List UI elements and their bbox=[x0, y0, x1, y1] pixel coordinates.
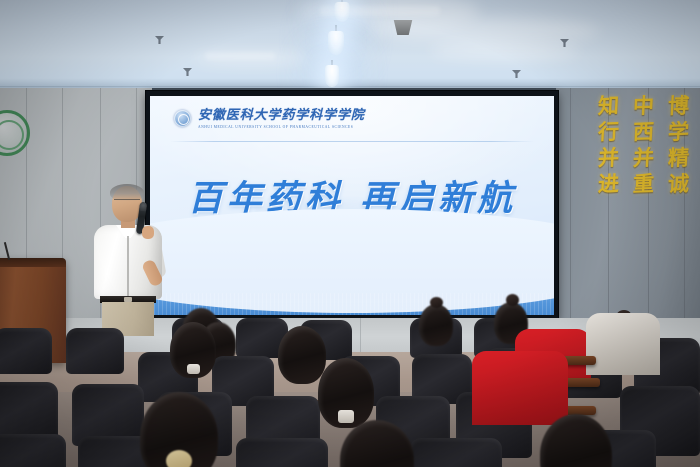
slide-divider bbox=[170, 141, 534, 142]
audience-member bbox=[419, 304, 453, 346]
lecture-hall-scene: 知 行 并 进 中 西 并 重 博 学 精 诚 安徽医科大学药学科学学院 bbox=[0, 0, 700, 467]
calligraphy-char: 中 bbox=[632, 96, 654, 118]
audience-member bbox=[540, 414, 612, 467]
projection-screen: 安徽医科大学药学科学学院 ANHUI MEDICAL UNIVERSITY SC… bbox=[146, 91, 558, 320]
audience-member bbox=[318, 358, 374, 428]
slide-organization-cn: 安徽医科大学药学科学学院 bbox=[198, 109, 365, 123]
seat bbox=[236, 438, 328, 467]
calligraphy-char: 行 bbox=[597, 122, 619, 144]
wall-calligraphy: 知 行 并 进 中 西 并 重 博 学 精 诚 bbox=[598, 96, 689, 195]
seat bbox=[0, 328, 52, 374]
sprinkler-icon bbox=[155, 36, 164, 44]
slide-organization-en: ANHUI MEDICAL UNIVERSITY SCHOOL OF PHARM… bbox=[198, 124, 365, 129]
calligraphy-char: 博 bbox=[667, 96, 689, 118]
calligraphy-char: 知 bbox=[597, 96, 619, 118]
calligraphy-char: 进 bbox=[597, 174, 619, 196]
calligraphy-char: 并 bbox=[632, 148, 654, 170]
calligraphy-char: 学 bbox=[667, 122, 689, 144]
audience-member bbox=[140, 392, 218, 467]
university-seal-icon bbox=[174, 110, 191, 127]
presentation-slide: 安徽医科大学药学科学学院 ANHUI MEDICAL UNIVERSITY SC… bbox=[150, 96, 554, 315]
calligraphy-column-boxue: 博 学 精 诚 bbox=[668, 96, 689, 195]
calligraphy-column-zhixing: 知 行 并 进 bbox=[598, 96, 619, 195]
slide-header: 安徽医科大学药学科学学院 ANHUI MEDICAL UNIVERSITY SC… bbox=[174, 109, 365, 128]
calligraphy-char: 重 bbox=[632, 174, 654, 196]
calligraphy-column-zhongxi: 中 西 并 重 bbox=[633, 96, 654, 195]
audience-member bbox=[170, 322, 216, 378]
audience-seating bbox=[0, 300, 700, 467]
audience-member bbox=[340, 420, 414, 467]
calligraphy-char: 诚 bbox=[667, 174, 689, 196]
calligraphy-char: 西 bbox=[632, 122, 654, 144]
calligraphy-char: 精 bbox=[667, 148, 689, 170]
calligraphy-char: 并 bbox=[597, 148, 619, 170]
audience-member bbox=[600, 320, 646, 374]
sprinkler-icon bbox=[183, 68, 192, 76]
glasses-icon bbox=[114, 199, 140, 205]
sprinkler-icon bbox=[512, 70, 521, 78]
seat bbox=[410, 438, 502, 467]
ceiling bbox=[0, 0, 700, 92]
seat bbox=[0, 434, 66, 467]
seat bbox=[66, 328, 124, 374]
